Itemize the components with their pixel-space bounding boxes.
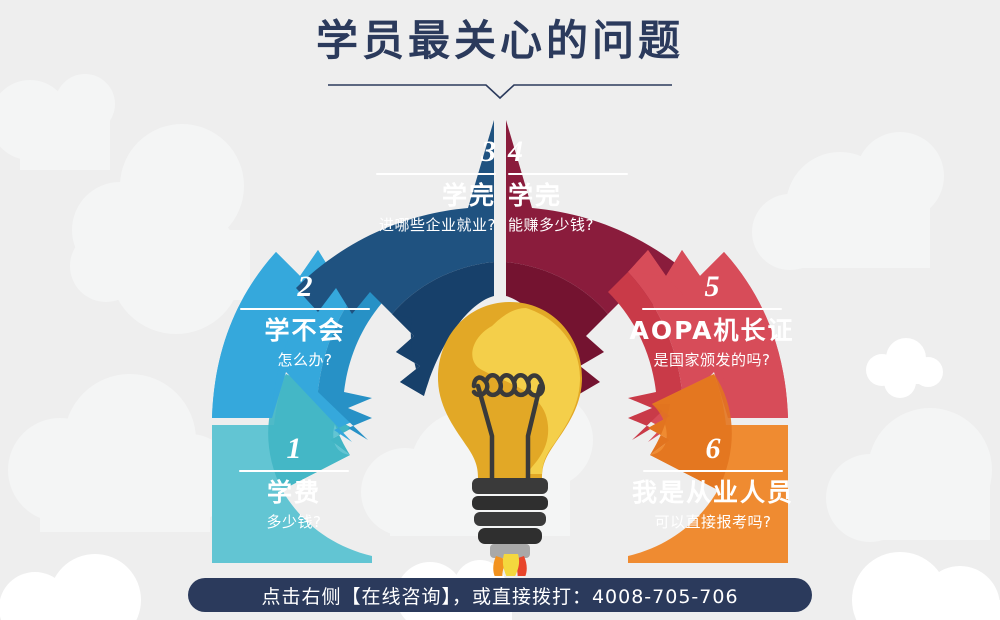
segment-number-5: 5	[614, 272, 810, 302]
segment-label-aopa-license: 5 AOPA机长证 是国家颁发的吗?	[614, 272, 810, 369]
infographic-canvas: 学员最关心的问题	[0, 0, 1000, 620]
segment-title-3: 学完	[316, 182, 496, 210]
segment-subtitle-5: 是国家颁发的吗?	[614, 351, 810, 369]
segment-number-2: 2	[222, 272, 388, 302]
segment-subtitle-2: 怎么办?	[222, 351, 388, 369]
segment-label-tuition: 1 学费 多少钱?	[214, 434, 374, 531]
segment-divider-4	[508, 173, 628, 175]
segment-number-3: 3	[316, 137, 496, 167]
segment-subtitle-4: 能赚多少钱?	[508, 216, 688, 234]
segment-number-6: 6	[620, 434, 806, 464]
lightbulb-icon	[430, 296, 590, 576]
cta-banner[interactable]: 点击右侧【在线咨询】，或直接拨打：4008-705-706	[188, 578, 812, 612]
segment-title-6: 我是从业人员	[620, 479, 806, 507]
segment-divider-6	[643, 470, 783, 472]
segment-subtitle-6: 可以直接报考吗?	[620, 513, 806, 531]
bulb-base	[472, 478, 548, 558]
segment-title-4: 学完	[508, 182, 688, 210]
segment-subtitle-3: 进哪些企业就业?	[316, 216, 496, 234]
segment-divider-5	[642, 308, 782, 310]
segment-label-cannot-learn: 2 学不会 怎么办?	[222, 272, 388, 369]
segment-number-4: 4	[508, 137, 688, 167]
bulb-flame	[493, 554, 527, 576]
cta-banner-text: 点击右侧【在线咨询】，或直接拨打：4008-705-706	[261, 582, 738, 609]
segment-label-practitioner: 6 我是从业人员 可以直接报考吗?	[620, 434, 806, 531]
segment-divider-1	[239, 470, 349, 472]
segment-title-5: AOPA机长证	[614, 317, 810, 345]
segment-title-2: 学不会	[222, 317, 388, 345]
segment-label-employment: 3 学完 进哪些企业就业?	[316, 137, 496, 234]
segment-divider-3	[376, 173, 496, 175]
segment-divider-2	[240, 308, 370, 310]
segment-label-salary: 4 学完 能赚多少钱?	[508, 137, 688, 234]
segment-subtitle-1: 多少钱?	[214, 513, 374, 531]
segment-number-1: 1	[214, 434, 374, 464]
segment-title-1: 学费	[214, 479, 374, 507]
